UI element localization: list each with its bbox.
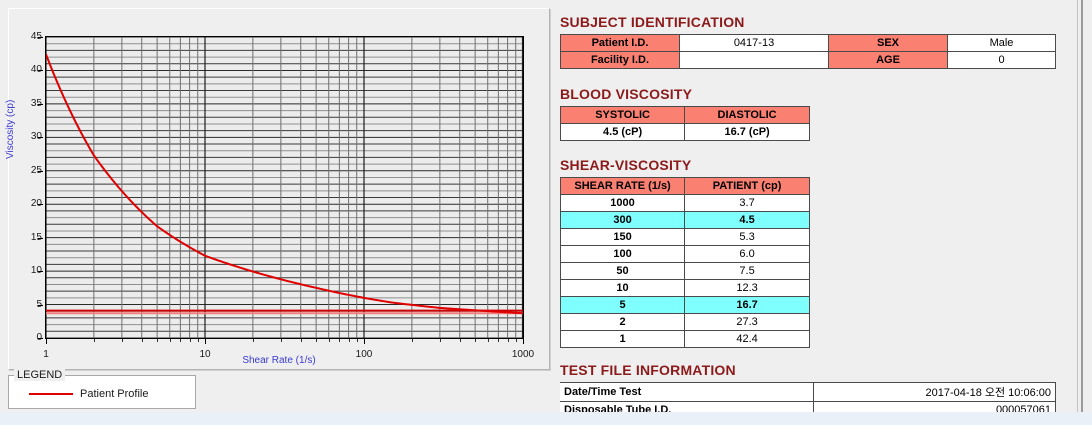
- shear-viscosity-cell: 42.4: [685, 331, 810, 348]
- x-axis-tick-mark: [170, 339, 171, 342]
- blood-header-systolic: SYSTOLIC: [561, 107, 685, 124]
- table-header-row: SYSTOLIC DIASTOLIC: [561, 107, 810, 124]
- section-title-subject: SUBJECT IDENTIFICATION: [560, 14, 1060, 30]
- x-axis-tick-mark: [339, 339, 340, 342]
- subject-value-sex: Male: [948, 35, 1056, 52]
- table-row: 142.4: [561, 331, 810, 348]
- x-axis-tick-mark: [349, 339, 350, 342]
- subject-value-facility-id: [680, 52, 829, 69]
- x-axis-tick-mark: [253, 339, 254, 342]
- x-axis-tick-mark: [205, 339, 206, 344]
- x-axis-tick-mark: [412, 339, 413, 342]
- table-row: Patient I.D. 0417-13 SEX Male: [561, 35, 1056, 52]
- x-axis-tick-mark: [157, 339, 158, 342]
- x-axis-tick-mark: [357, 339, 358, 342]
- shear-rate-cell: 1: [561, 331, 685, 348]
- shear-viscosity-cell: 4.5: [685, 212, 810, 229]
- x-axis-tick-mark: [198, 339, 199, 342]
- table-header-row: SHEAR RATE (1/s) PATIENT (cp): [561, 178, 810, 195]
- shear-rate-cell: 50: [561, 263, 685, 280]
- subject-label-patient-id: Patient I.D.: [561, 35, 680, 52]
- x-axis-tick-mark: [301, 339, 302, 342]
- shear-viscosity-cell: 16.7: [685, 297, 810, 314]
- y-axis-tick-mark: [38, 305, 43, 306]
- vertical-scrollbar[interactable]: [1081, 0, 1083, 412]
- subject-value-age: 0: [948, 52, 1056, 69]
- y-axis-tick-mark: [38, 70, 43, 71]
- table-row: 3004.5: [561, 212, 810, 229]
- legend-entry-label: Patient Profile: [80, 388, 148, 400]
- y-axis-tick-mark: [38, 238, 43, 239]
- y-axis-tick-mark: [38, 137, 43, 138]
- legend-title: LEGEND: [14, 369, 65, 381]
- testfile-label-datetime: Date/Time Test: [560, 383, 814, 402]
- shear-rate-cell: 10: [561, 280, 685, 297]
- x-axis-tick-mark: [488, 339, 489, 342]
- x-axis-tick-mark: [523, 339, 524, 344]
- shear-rate-cell: 2: [561, 314, 685, 331]
- y-axis-tick-mark: [38, 338, 43, 339]
- table-row: 1505.3: [561, 229, 810, 246]
- blood-viscosity-table: SYSTOLIC DIASTOLIC 4.5 (cP) 16.7 (cP): [560, 106, 810, 141]
- shear-header-rate: SHEAR RATE (1/s): [561, 178, 685, 195]
- table-row: 10003.7: [561, 195, 810, 212]
- section-title-shear-viscosity: SHEAR-VISCOSITY: [560, 157, 1060, 173]
- window-right-gutter: [1072, 0, 1092, 425]
- shear-rate-cell: 5: [561, 297, 685, 314]
- section-title-blood-viscosity: BLOOD VISCOSITY: [560, 86, 1060, 102]
- x-axis-tick-mark: [460, 339, 461, 342]
- shear-viscosity-cell: 3.7: [685, 195, 810, 212]
- table-row: 507.5: [561, 263, 810, 280]
- subject-identification-table: Patient I.D. 0417-13 SEX Male Facility I…: [560, 34, 1056, 69]
- subject-label-sex: SEX: [829, 35, 948, 52]
- table-row: Date/Time Test 2017-04-18 오전 10:06:00: [560, 383, 1056, 402]
- shear-viscosity-cell: 6.0: [685, 246, 810, 263]
- shear-viscosity-table: SHEAR RATE (1/s) PATIENT (cp) 10003.7300…: [560, 177, 810, 348]
- y-axis-tick-mark: [38, 271, 43, 272]
- table-row: Facility I.D. AGE 0: [561, 52, 1056, 69]
- x-axis-tick-mark: [142, 339, 143, 342]
- subject-label-age: AGE: [829, 52, 948, 69]
- table-row: 227.3: [561, 314, 810, 331]
- table-row: 4.5 (cP) 16.7 (cP): [561, 124, 810, 141]
- shear-rate-cell: 1000: [561, 195, 685, 212]
- blood-header-diastolic: DIASTOLIC: [685, 107, 810, 124]
- section-title-test-file: TEST FILE INFORMATION: [560, 362, 1060, 378]
- x-axis-tick-mark: [281, 339, 282, 342]
- x-axis-tick-mark: [475, 339, 476, 342]
- table-row: 516.7: [561, 297, 810, 314]
- shear-viscosity-cell: 5.3: [685, 229, 810, 246]
- subject-label-facility-id: Facility I.D.: [561, 52, 680, 69]
- table-row: 1012.3: [561, 280, 810, 297]
- x-axis-tick-mark: [516, 339, 517, 342]
- x-axis-tick-mark: [190, 339, 191, 342]
- shear-rate-cell: 300: [561, 212, 685, 229]
- legend-line-swatch: [29, 393, 73, 395]
- blood-value-diastolic: 16.7 (cP): [685, 124, 810, 141]
- y-axis-tick-mark: [38, 104, 43, 105]
- x-axis-tick-mark: [94, 339, 95, 342]
- x-axis-tick-mark: [498, 339, 499, 342]
- shear-rate-cell: 100: [561, 246, 685, 263]
- x-axis-tick-mark: [316, 339, 317, 342]
- y-axis-tick-mark: [38, 204, 43, 205]
- x-axis-tick-mark: [180, 339, 181, 342]
- x-axis-tick-mark: [46, 339, 47, 344]
- y-axis-tick-mark: [38, 37, 43, 38]
- chart-x-axis-label: Shear Rate (1/s): [9, 355, 549, 366]
- legend-entry-patient-profile: Patient Profile: [29, 388, 148, 400]
- shear-rate-cell: 150: [561, 229, 685, 246]
- viscosity-chart-panel: Viscosity (cp) 051015202530354045 110100…: [8, 8, 550, 370]
- y-axis-tick-mark: [38, 171, 43, 172]
- chart-plot-area: [45, 36, 524, 339]
- chart-y-axis-ticks: 051015202530354045: [9, 36, 42, 339]
- shear-header-patient: PATIENT (cp): [685, 178, 810, 195]
- gutter-divider-light: [1077, 0, 1078, 412]
- blood-value-systolic: 4.5 (cP): [561, 124, 685, 141]
- table-row: 1006.0: [561, 246, 810, 263]
- shear-viscosity-cell: 7.5: [685, 263, 810, 280]
- x-axis-tick-mark: [329, 339, 330, 342]
- x-axis-tick-mark: [508, 339, 509, 342]
- window-bottom-strip: [0, 412, 1092, 425]
- shear-viscosity-cell: 27.3: [685, 314, 810, 331]
- x-axis-tick-mark: [122, 339, 123, 342]
- shear-viscosity-cell: 12.3: [685, 280, 810, 297]
- x-axis-tick-mark: [364, 339, 365, 344]
- report-pane: SUBJECT IDENTIFICATION Patient I.D. 0417…: [560, 14, 1060, 419]
- x-axis-tick-mark: [440, 339, 441, 342]
- testfile-value-datetime: 2017-04-18 오전 10:06:00: [814, 383, 1056, 402]
- subject-value-patient-id: 0417-13: [680, 35, 829, 52]
- chart-svg: [46, 37, 523, 338]
- report-window: Viscosity (cp) 051015202530354045 110100…: [0, 0, 1092, 425]
